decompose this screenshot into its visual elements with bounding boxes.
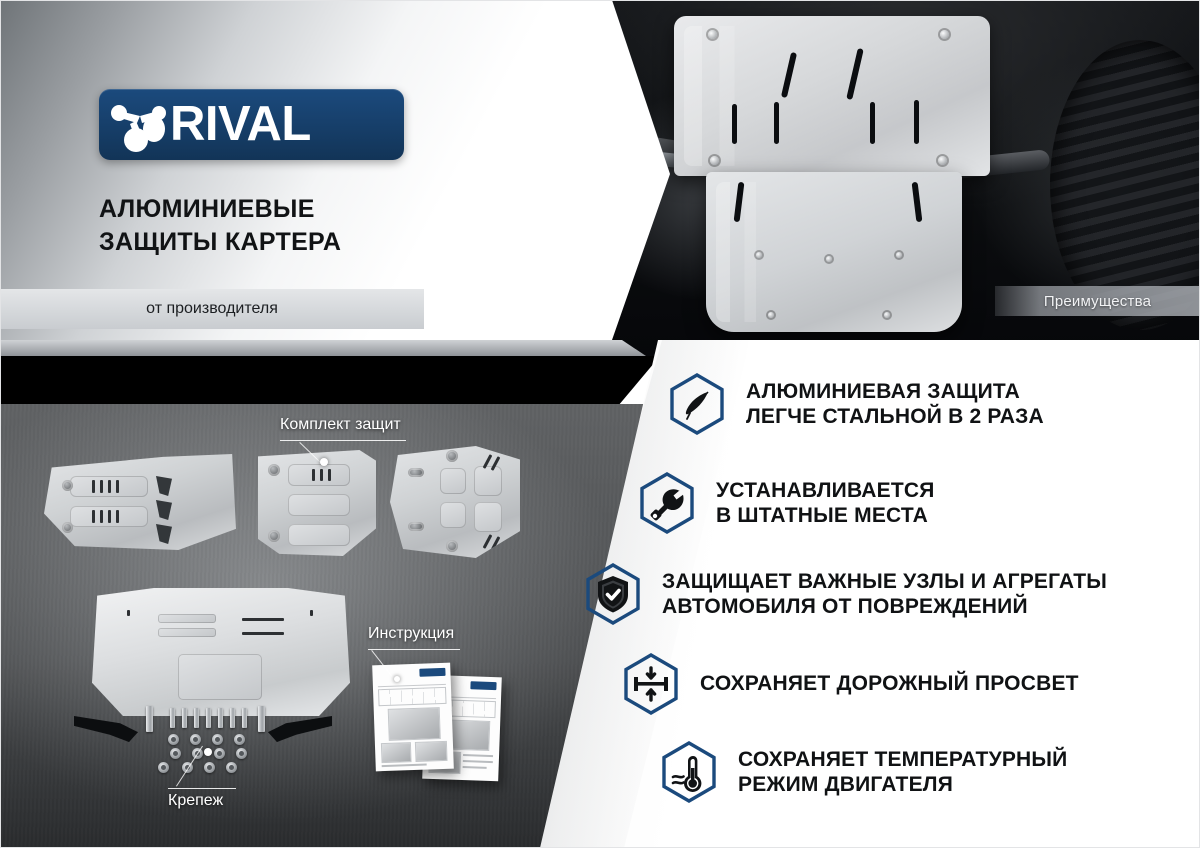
undercarriage-photo: Преимущества xyxy=(600,0,1200,356)
wrench-icon xyxy=(638,471,696,535)
label-rule-fasteners xyxy=(168,788,236,789)
label-instruction: Инструкция xyxy=(368,625,454,643)
skid-plate-right xyxy=(390,446,520,558)
leader-dot-instruction xyxy=(394,676,400,682)
feature-item-clearance: СОХРАНЯЕТ ДОРОЖНЫЙ ПРОСВЕТ xyxy=(622,652,1079,716)
mounted-skid-plate-lower xyxy=(706,172,962,332)
label-rule-kit xyxy=(280,440,406,441)
feather-icon xyxy=(668,372,726,436)
subtitle-text: от производителя xyxy=(146,300,278,318)
rival-logo[interactable]: RIVAL xyxy=(99,89,404,160)
mounted-skid-plate-upper xyxy=(674,16,990,176)
rival-logo-text: RIVAL xyxy=(170,100,311,149)
feature-text-fitment: УСТАНАВЛИВАЕТСЯ В ШТАТНЫЕ МЕСТА xyxy=(716,478,935,528)
skid-plate-center xyxy=(258,450,376,556)
page-title-line1: АЛЮМИНИЕВЫЕ xyxy=(99,193,519,226)
feature-item-temperature: СОХРАНЯЕТ ТЕМПЕРАТУРНЫЙ РЕЖИМ ДВИГАТЕЛЯ xyxy=(660,740,1067,804)
feature-text-clearance: СОХРАНЯЕТ ДОРОЖНЫЙ ПРОСВЕТ xyxy=(700,671,1079,696)
advantages-tab-label: Преимущества xyxy=(1044,293,1151,310)
ground-clearance-icon xyxy=(622,652,680,716)
advantages-tab: Преимущества xyxy=(995,286,1200,316)
poster-root: Преимущества RIVAL АЛЮМИНИЕВЫЕ ЗАЩИТЫ КА xyxy=(0,0,1200,848)
shield-check-icon xyxy=(584,562,642,626)
molecule-icon xyxy=(110,97,172,153)
feature-item-weight: АЛЮМИНИЕВАЯ ЗАЩИТА ЛЕГЧЕ СТАЛЬНОЙ В 2 РА… xyxy=(668,372,1044,436)
divider-band xyxy=(0,356,660,406)
header-bottom-band xyxy=(0,340,646,356)
thermometer-icon xyxy=(660,740,718,804)
subtitle-bar: от производителя xyxy=(0,289,424,329)
skid-plate-large-stamped xyxy=(92,588,350,716)
feature-item-fitment: УСТАНАВЛИВАЕТСЯ В ШТАТНЫЕ МЕСТА xyxy=(638,471,935,535)
page-title-line2: ЗАЩИТЫ КАРТЕРА xyxy=(99,226,519,259)
instruction-sheet-front xyxy=(372,663,454,772)
label-fasteners: Крепеж xyxy=(168,792,223,810)
leader-dot-fasteners xyxy=(204,748,212,756)
page-title: АЛЮМИНИЕВЫЕ ЗАЩИТЫ КАРТЕРА xyxy=(99,193,519,259)
feature-item-protection: ЗАЩИЩАЕТ ВАЖНЫЕ УЗЛЫ И АГРЕГАТЫ АВТОМОБИ… xyxy=(584,562,1107,626)
feature-text-temperature: СОХРАНЯЕТ ТЕМПЕРАТУРНЫЙ РЕЖИМ ДВИГАТЕЛЯ xyxy=(738,747,1067,797)
feature-text-protection: ЗАЩИЩАЕТ ВАЖНЫЕ УЗЛЫ И АГРЕГАТЫ АВТОМОБИ… xyxy=(662,569,1107,619)
feature-text-weight: АЛЮМИНИЕВАЯ ЗАЩИТА ЛЕГЧЕ СТАЛЬНОЙ В 2 РА… xyxy=(746,379,1044,429)
skid-plate-wide xyxy=(44,454,236,550)
label-protection-kit: Комплект защит xyxy=(280,416,401,434)
leader-dot-kit xyxy=(320,458,328,466)
label-rule-instruction xyxy=(368,649,460,650)
